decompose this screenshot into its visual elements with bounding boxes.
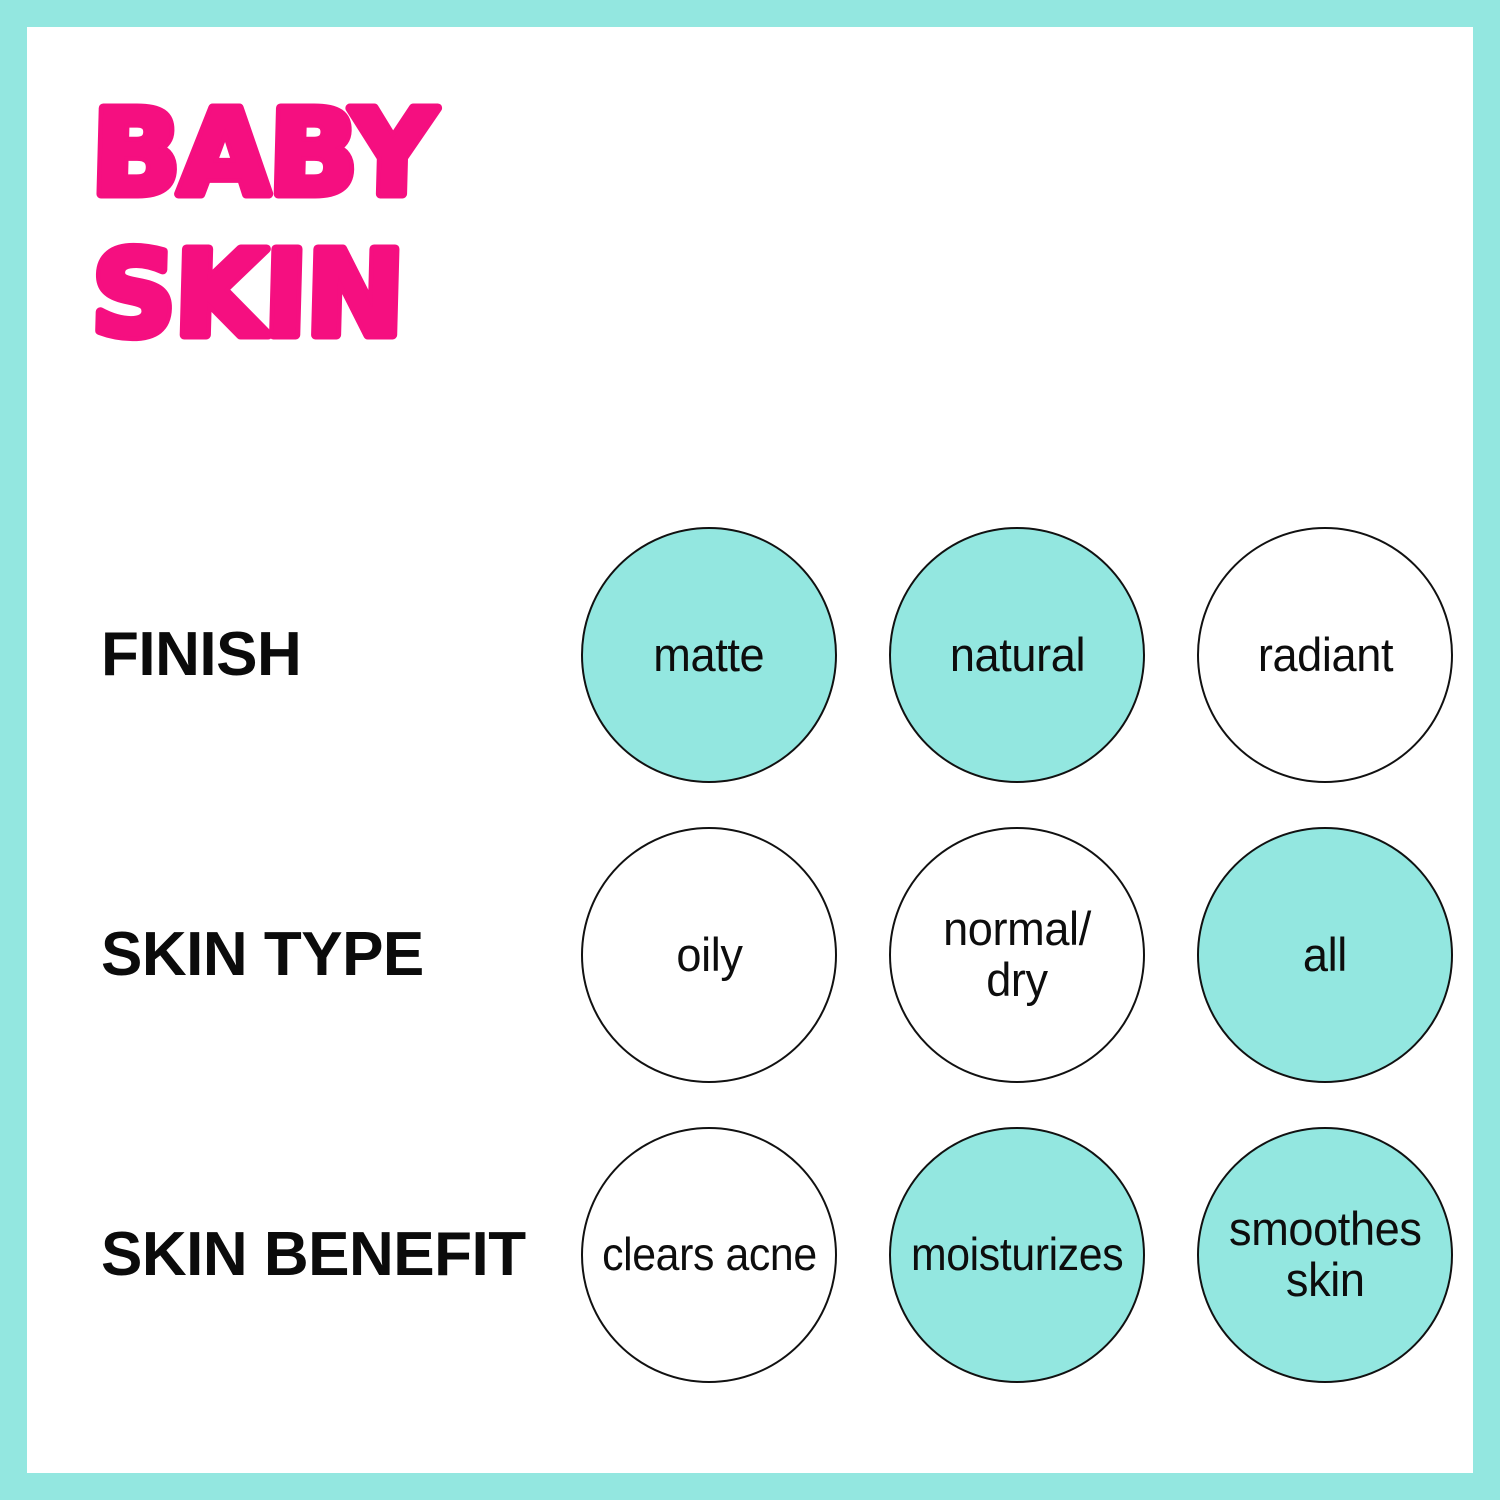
option-bubble-all[interactable]: all [1197, 827, 1453, 1083]
matrix-row-skin-benefit: SKIN BENEFIT clears acne moisturizes smo… [51, 1105, 1451, 1405]
row-label-skin-type: SKIN TYPE [51, 924, 581, 986]
row-options-skin-type: oily normal/ dry all [581, 805, 1451, 1105]
option-label-oily: oily [676, 930, 742, 981]
option-bubble-moisturizes[interactable]: moisturizes [889, 1127, 1145, 1383]
row-label-skin-benefit: SKIN BENEFIT [51, 1224, 581, 1286]
option-label-normal-dry: normal/ dry [943, 904, 1091, 1006]
option-label-radiant: radiant [1257, 630, 1392, 681]
option-bubble-radiant[interactable]: radiant [1197, 527, 1453, 783]
option-label-natural: natural [949, 630, 1084, 681]
brand-logo-line1: BABY [89, 84, 438, 222]
option-bubble-smoothes-skin[interactable]: smoothes skin [1197, 1127, 1453, 1383]
option-label-smoothes-skin: smoothes skin [1229, 1204, 1422, 1306]
matrix-row-skin-type: SKIN TYPE oily normal/ dry all [51, 805, 1451, 1105]
option-bubble-clears-acne[interactable]: clears acne [581, 1127, 837, 1383]
option-bubble-oily[interactable]: oily [581, 827, 837, 1083]
row-label-finish: FINISH [51, 624, 581, 686]
option-bubble-matte[interactable]: matte [581, 527, 837, 783]
brand-logo-artwork: BABY SKIN [87, 82, 507, 382]
option-bubble-natural[interactable]: natural [889, 527, 1145, 783]
option-label-matte: matte [654, 630, 765, 681]
option-label-clears-acne: clears acne [602, 1230, 817, 1280]
attribute-matrix: FINISH matte natural radiant SKIN TYPE o… [51, 505, 1451, 1425]
row-options-skin-benefit: clears acne moisturizes smoothes skin [581, 1105, 1451, 1405]
row-options-finish: matte natural radiant [581, 505, 1451, 805]
brand-logo: BABY SKIN [87, 82, 507, 382]
option-label-all: all [1303, 930, 1347, 981]
matrix-row-finish: FINISH matte natural radiant [51, 505, 1451, 805]
option-bubble-normal-dry[interactable]: normal/ dry [889, 827, 1145, 1083]
option-label-moisturizes: moisturizes [911, 1230, 1123, 1280]
product-attribute-infographic: BABY SKIN FINISH matte natural radiant S… [0, 0, 1500, 1500]
brand-logo-line2: SKIN [90, 225, 405, 363]
